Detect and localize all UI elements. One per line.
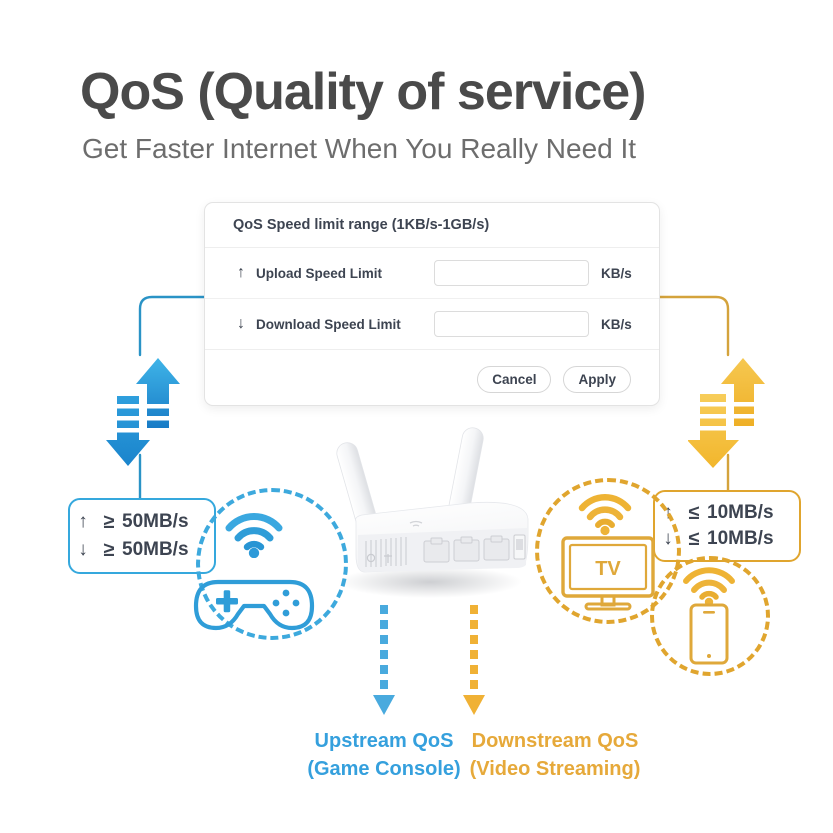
less-equal-icon: ≤ [681, 502, 707, 525]
upload-speed-input[interactable] [434, 260, 589, 286]
upload-speed-row: ↑ Upload Speed Limit KB/s [205, 248, 659, 299]
downstream-up-speed-value: 10MB/s [707, 502, 774, 524]
download-speed-label: Download Speed Limit [256, 317, 434, 332]
upstream-speed-badge: ↑ ≥ 50MB/s ↓ ≥ 50MB/s [68, 498, 216, 574]
cancel-button[interactable]: Cancel [477, 366, 551, 393]
download-speed-unit: KB/s [601, 317, 632, 332]
tv-label: TV [595, 558, 621, 580]
wifi-icon [223, 510, 285, 558]
gamepad-icon [192, 578, 316, 640]
download-speed-input[interactable] [434, 311, 589, 337]
downstream-caption: Downstream QoS (Video Streaming) [405, 728, 705, 783]
dialog-footer: Cancel Apply [205, 350, 659, 406]
upstream-speed-value: 50MB/s [122, 511, 189, 533]
smartphone-icon [687, 602, 731, 666]
greater-equal-icon: ≥ [96, 539, 122, 562]
arrow-up-icon: ↑ [70, 511, 96, 533]
upload-speed-unit: KB/s [601, 266, 632, 281]
download-speed-row: ↓ Download Speed Limit KB/s [205, 299, 659, 350]
downstream-caption-line2: (Video Streaming) [405, 756, 705, 784]
downstream-badge-line-up: ↑ ≤ 10MB/s [655, 500, 799, 526]
wifi-icon [576, 492, 634, 536]
downstream-pointer-arrow-icon [463, 605, 485, 715]
upstream-bidirectional-arrow-icon [103, 352, 183, 472]
downstream-caption-line1: Downstream QoS [405, 728, 705, 756]
upstream-badge-line-up: ↑ ≥ 50MB/s [70, 508, 214, 536]
apply-button[interactable]: Apply [563, 366, 631, 393]
wifi-router-icon [318, 425, 536, 600]
downstream-speed-value: 50MB/s [122, 539, 189, 561]
upstream-badge-line-down: ↓ ≥ 50MB/s [70, 536, 214, 564]
upload-speed-label: Upload Speed Limit [256, 266, 434, 281]
arrow-up-icon: ↑ [233, 265, 249, 281]
downstream-bidirectional-arrow-icon [688, 352, 768, 472]
downstream-down-speed-value: 10MB/s [707, 528, 774, 550]
infographic-canvas: QoS (Quality of service) Get Faster Inte… [0, 0, 833, 833]
greater-equal-icon: ≥ [96, 511, 122, 534]
dialog-header: QoS Speed limit range (1KB/s-1GB/s) [205, 203, 659, 248]
tv-icon: TV [560, 535, 656, 611]
arrow-down-icon: ↓ [70, 539, 96, 561]
qos-speed-limit-dialog: QoS Speed limit range (1KB/s-1GB/s) ↑ Up… [204, 202, 660, 406]
arrow-down-icon: ↓ [233, 316, 249, 332]
less-equal-icon: ≤ [681, 528, 707, 551]
upstream-pointer-arrow-icon [373, 605, 395, 715]
